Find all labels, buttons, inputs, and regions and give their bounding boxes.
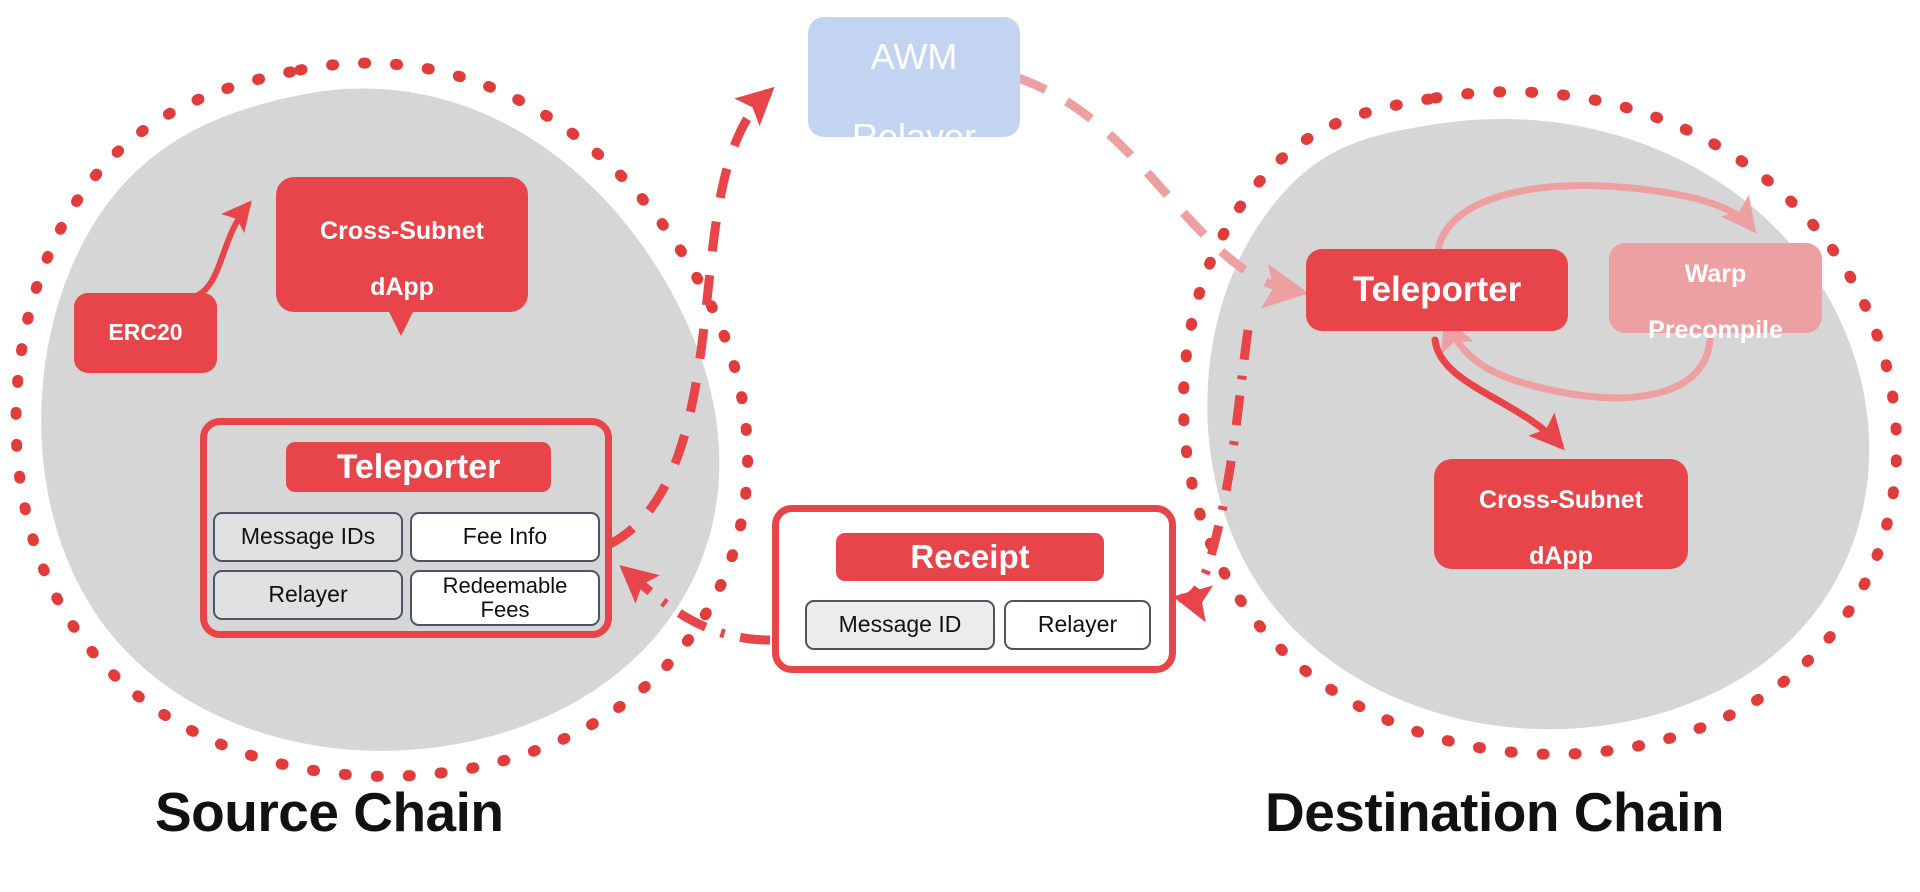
- node-warp-precompile-label: Warp Precompile: [1648, 232, 1783, 344]
- node-source-cross-subnet-dapp[interactable]: Cross-Subnet dApp: [276, 177, 528, 312]
- awm-relayer-line-1: AWM: [871, 36, 958, 77]
- destination-chain-caption: Destination Chain: [1265, 780, 1724, 844]
- node-awm-relayer[interactable]: AWM Relayer: [808, 17, 1020, 137]
- edge-source-teleporter-to-awm-relayer: [608, 92, 769, 545]
- node-awm-relayer-label: AWM Relayer: [852, 0, 976, 158]
- source-field-relayer-label: Relayer: [268, 582, 347, 607]
- dapp-line-2: dApp: [370, 273, 434, 301]
- destination-chain-caption-label: Destination Chain: [1265, 781, 1724, 843]
- source-chain-caption: Source Chain: [155, 780, 504, 844]
- node-warp-precompile[interactable]: Warp Precompile: [1609, 243, 1822, 333]
- node-erc20-label: ERC20: [108, 320, 182, 346]
- source-chain-caption-label: Source Chain: [155, 781, 504, 843]
- node-source-dapp-label: Cross-Subnet dApp: [320, 189, 484, 301]
- node-destination-cross-subnet-dapp[interactable]: Cross-Subnet dApp: [1434, 459, 1688, 569]
- awm-relayer-line-2: Relayer: [852, 116, 976, 157]
- edge-erc20-to-dapp: [178, 205, 248, 300]
- edge-awm-relayer-to-destination-teleporter: [1018, 78, 1300, 292]
- source-field-relayer[interactable]: Relayer: [213, 570, 403, 620]
- source-teleporter-title: Teleporter: [286, 442, 551, 492]
- dest-dapp-line-2: dApp: [1529, 542, 1593, 570]
- node-destination-teleporter[interactable]: Teleporter: [1306, 249, 1568, 331]
- node-erc20[interactable]: ERC20: [74, 293, 217, 373]
- dapp-line-1: Cross-Subnet: [320, 217, 484, 245]
- diagram-canvas: ERC20 Cross-Subnet dApp Teleporter Messa…: [0, 0, 1920, 892]
- dest-dapp-line-1: Cross-Subnet: [1479, 486, 1643, 514]
- receipt-title: Receipt: [836, 533, 1104, 581]
- source-teleporter-title-label: Teleporter: [337, 448, 501, 487]
- receipt-title-label: Receipt: [910, 538, 1029, 576]
- destination-chain-blob: [1207, 119, 1869, 729]
- source-field-redeemable-fees-label: Redeemable Fees: [443, 574, 568, 622]
- edge-destination-to-receipt: [1180, 330, 1248, 598]
- source-field-redeemable-fees[interactable]: Redeemable Fees: [410, 570, 600, 626]
- destination-chain-dotted-border: [1183, 92, 1896, 755]
- source-field-message-ids[interactable]: Message IDs: [213, 512, 403, 562]
- warp-line-1: Warp: [1685, 260, 1747, 288]
- edge-receipt-to-source-teleporter: [625, 570, 770, 640]
- receipt-field-relayer-label: Relayer: [1038, 612, 1117, 637]
- warp-line-2: Precompile: [1648, 316, 1783, 344]
- receipt-field-relayer[interactable]: Relayer: [1004, 600, 1151, 650]
- source-field-fee-info-label: Fee Info: [463, 524, 547, 549]
- source-field-message-ids-label: Message IDs: [241, 524, 375, 549]
- receipt-field-message-id[interactable]: Message ID: [805, 600, 995, 650]
- node-destination-dapp-label: Cross-Subnet dApp: [1479, 458, 1643, 570]
- edge-destination-teleporter-to-dapp: [1435, 340, 1560, 445]
- receipt-field-message-id-label: Message ID: [839, 612, 962, 637]
- source-field-fee-info[interactable]: Fee Info: [410, 512, 600, 562]
- node-destination-teleporter-label: Teleporter: [1353, 270, 1522, 309]
